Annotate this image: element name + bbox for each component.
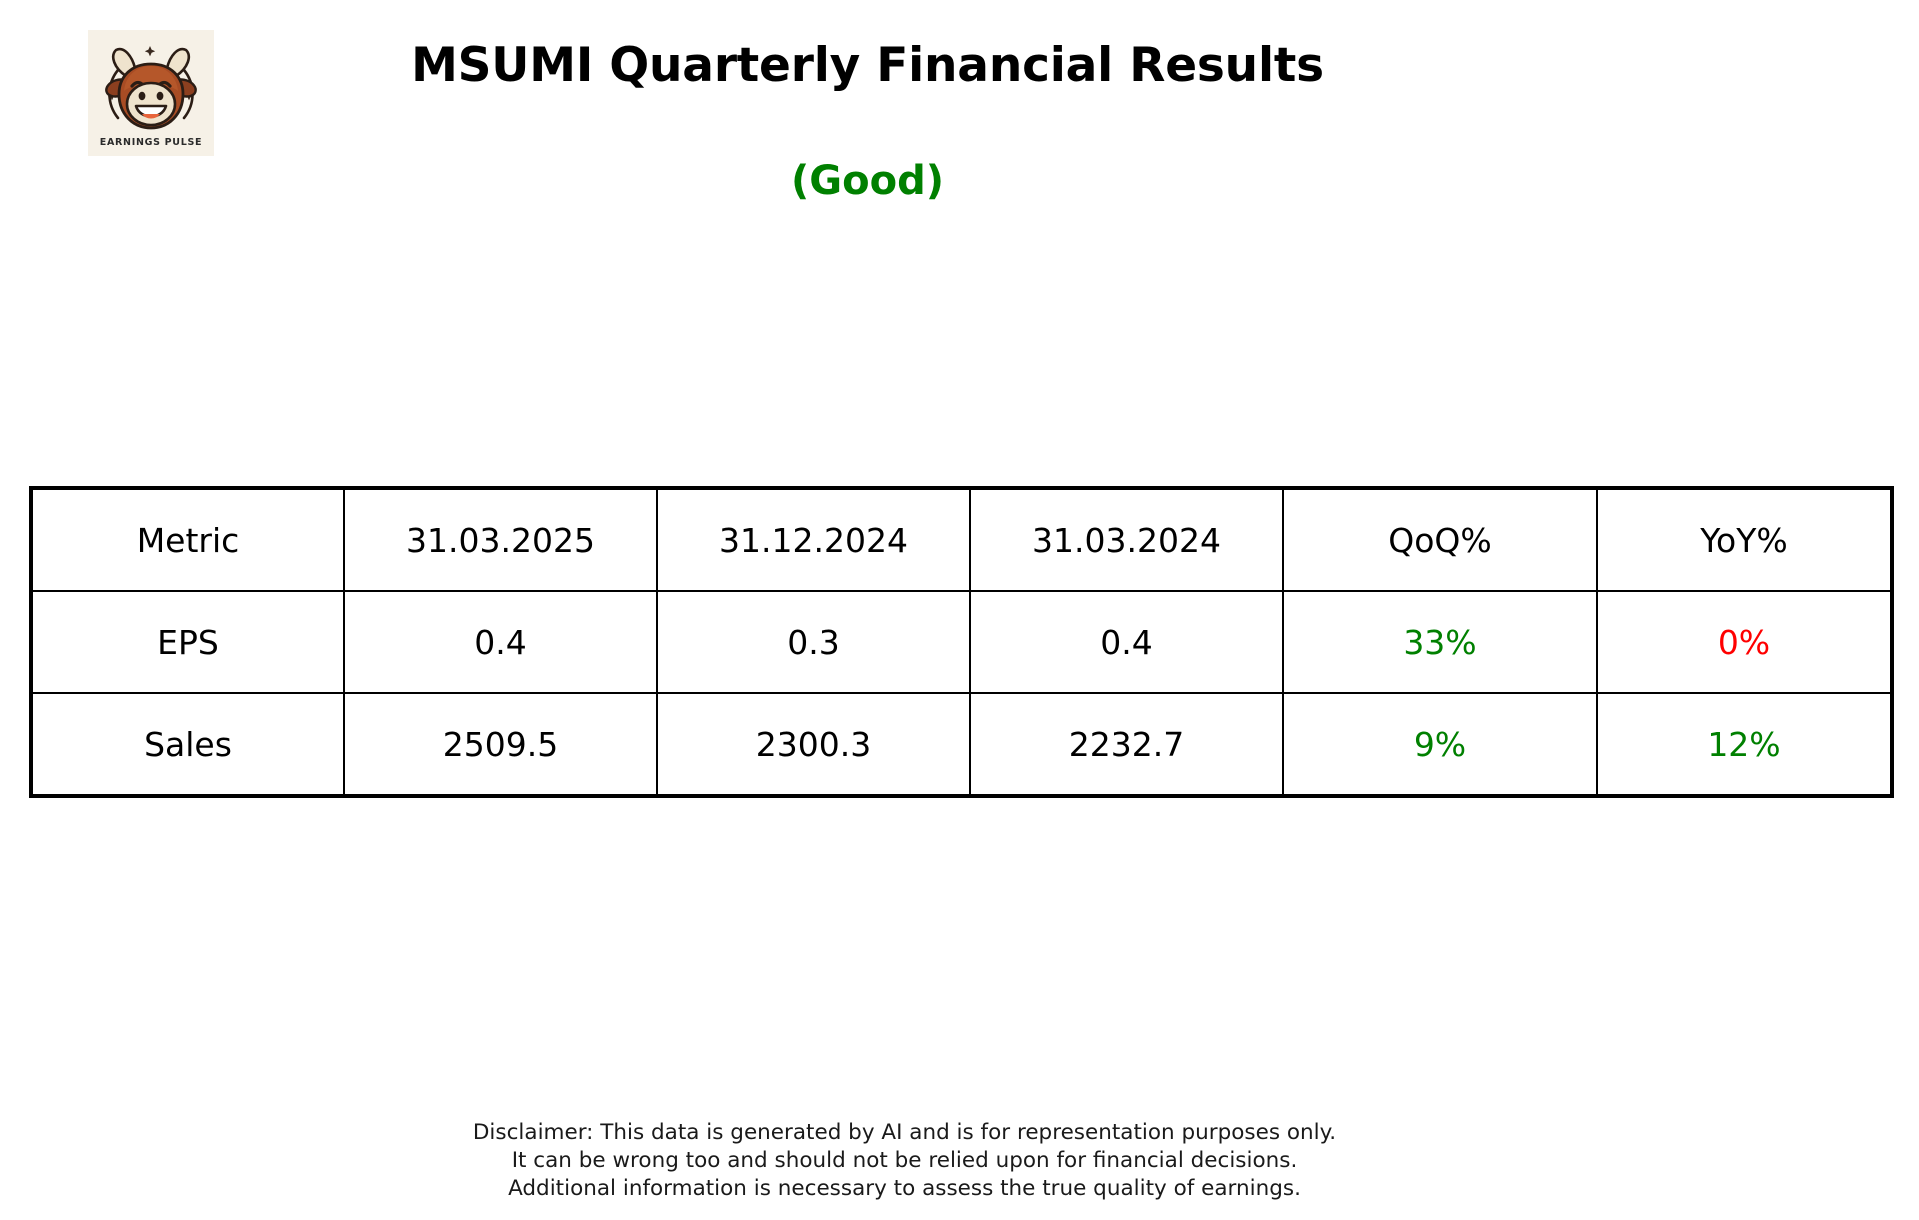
cell-eps-31-12-2024: 0.3 — [657, 591, 970, 693]
cell-sales-31-03-2025: 2509.5 — [344, 693, 657, 796]
cell-sales-qoq: 9% — [1283, 693, 1597, 796]
cell-eps-qoq: 33% — [1283, 591, 1597, 693]
column-header-date-2: 31.12.2024 — [657, 488, 970, 591]
column-header-date-1: 31.03.2025 — [344, 488, 657, 591]
table-header-row: Metric 31.03.2025 31.12.2024 31.03.2024 … — [31, 488, 1892, 591]
disclaimer-line-1: Disclaimer: This data is generated by AI… — [0, 1119, 1864, 1147]
page-title: MSUMI Quarterly Financial Results — [0, 38, 1827, 93]
cell-eps-yoy: 0% — [1597, 591, 1892, 693]
brand-wordmark: EARNINGS PULSE — [88, 137, 214, 148]
column-header-yoy: YoY% — [1597, 488, 1892, 591]
cell-sales-31-03-2024: 2232.7 — [970, 693, 1283, 796]
table-row: EPS 0.4 0.3 0.4 33% 0% — [31, 591, 1892, 693]
column-header-date-3: 31.03.2024 — [970, 488, 1283, 591]
column-header-qoq: QoQ% — [1283, 488, 1597, 591]
column-header-metric: Metric — [31, 488, 344, 591]
disclaimer-line-2: It can be wrong too and should not be re… — [0, 1147, 1864, 1175]
disclaimer-line-3: Additional information is necessary to a… — [0, 1175, 1864, 1203]
cell-metric-eps: EPS — [31, 591, 344, 693]
cell-metric-sales: Sales — [31, 693, 344, 796]
cell-sales-31-12-2024: 2300.3 — [657, 693, 970, 796]
disclaimer: Disclaimer: This data is generated by AI… — [0, 1119, 1864, 1203]
page-subtitle-verdict: (Good) — [0, 158, 1827, 204]
table-row: Sales 2509.5 2300.3 2232.7 9% 12% — [31, 693, 1892, 796]
cell-eps-31-03-2025: 0.4 — [344, 591, 657, 693]
financial-results-table: Metric 31.03.2025 31.12.2024 31.03.2024 … — [29, 486, 1894, 798]
cell-sales-yoy: 12% — [1597, 693, 1892, 796]
cell-eps-31-03-2024: 0.4 — [970, 591, 1283, 693]
